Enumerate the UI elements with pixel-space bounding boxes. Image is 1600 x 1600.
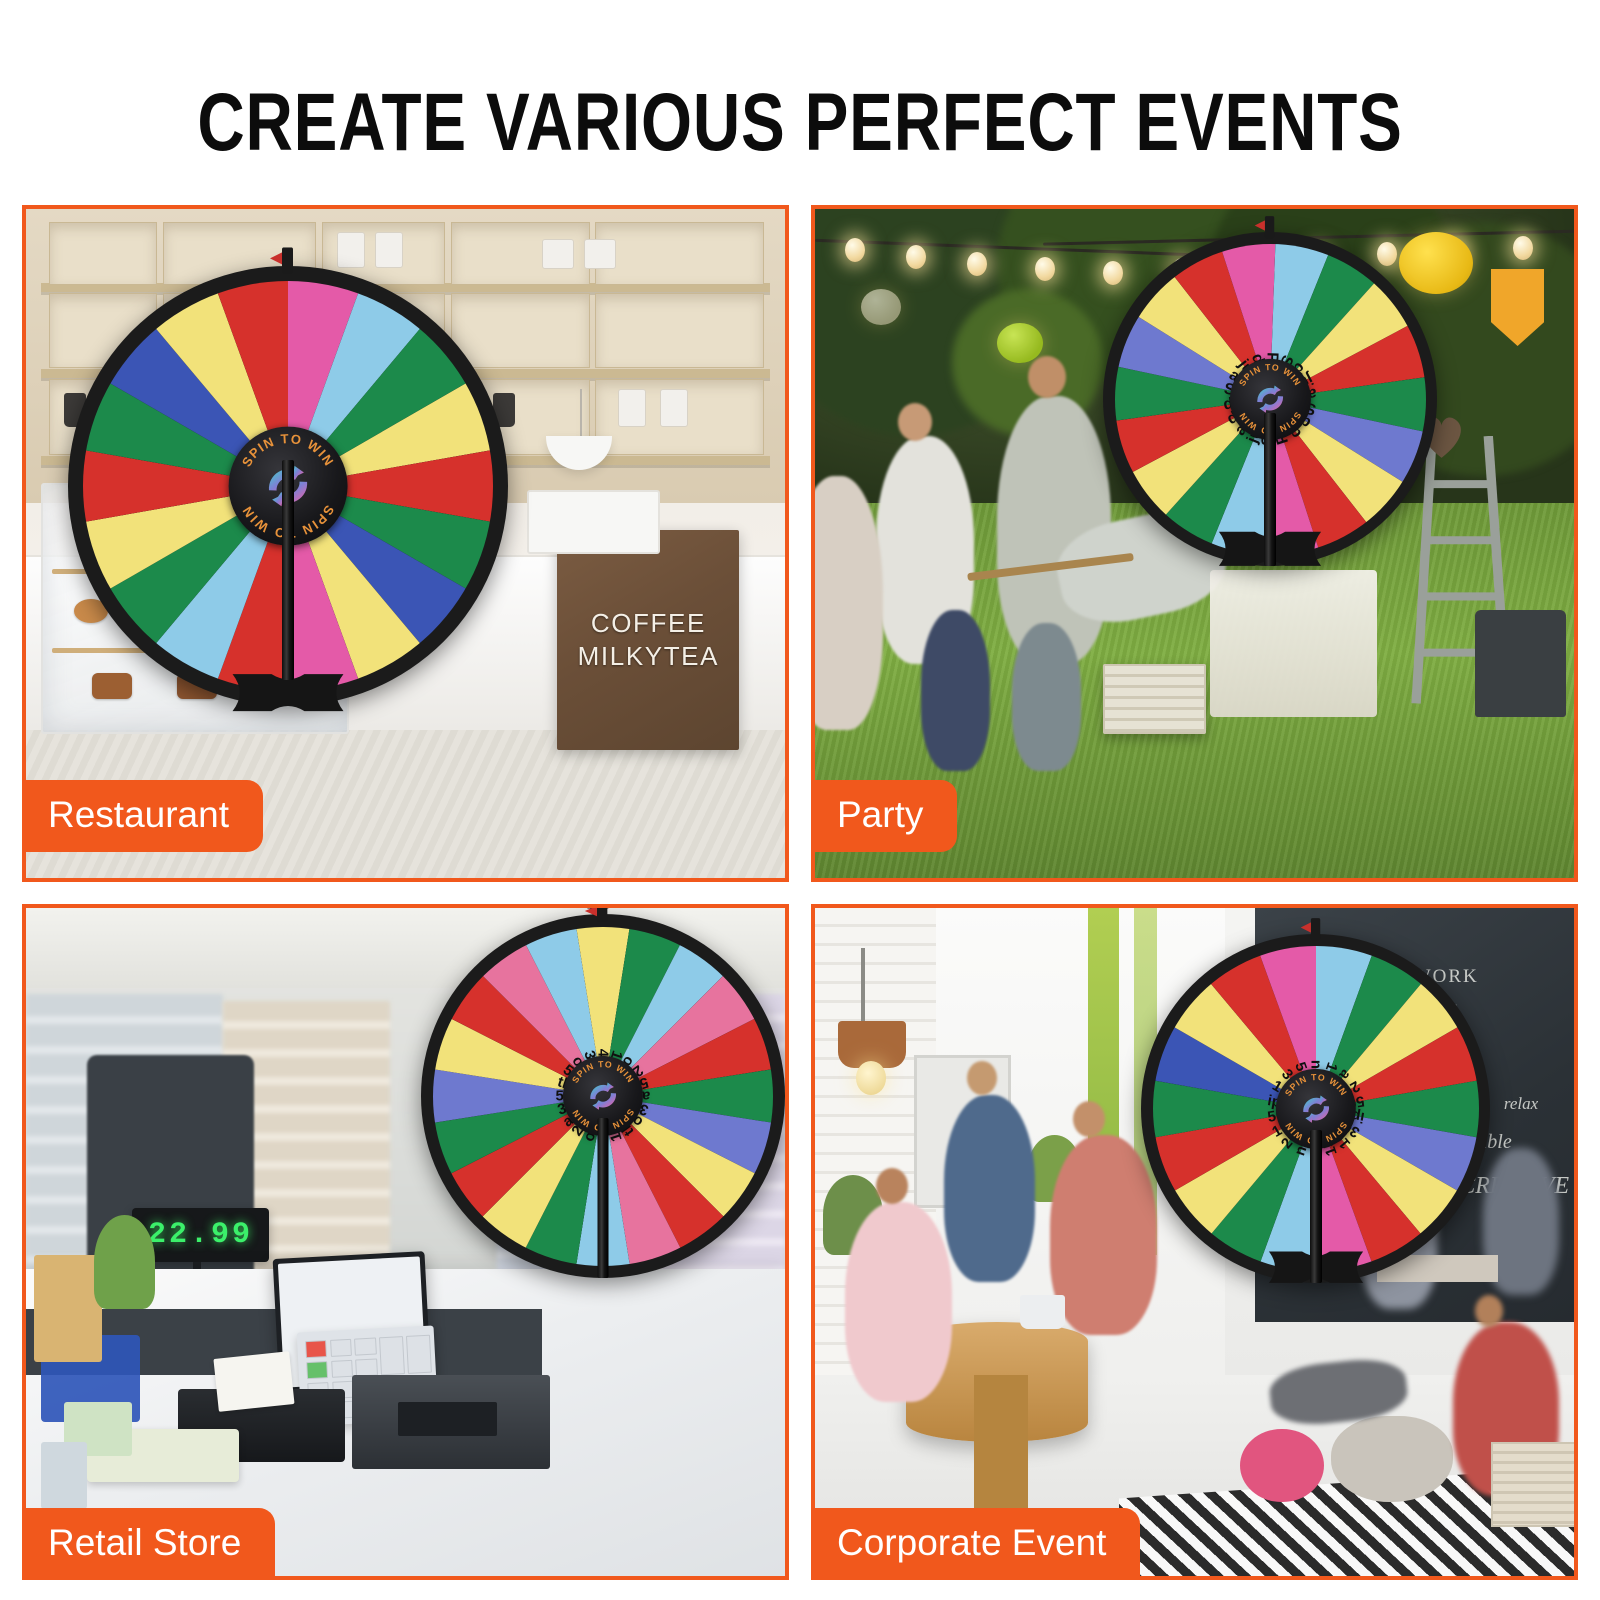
wheel-pole — [1264, 413, 1276, 567]
light-bulb — [856, 1061, 886, 1094]
wheel-pointer-icon — [1253, 216, 1287, 242]
prize-wheel-unit-party[interactable]: PassSingdancingjumpadventureSingdrinkdan… — [1103, 232, 1437, 566]
metal-stool — [1475, 610, 1566, 717]
sign-line-2: MILKYTEA — [578, 641, 719, 671]
person-head — [876, 1168, 908, 1204]
paper-lantern — [997, 323, 1043, 363]
cash-drawer-handle[interactable] — [398, 1402, 497, 1435]
caption-corporate-event: Corporate Event — [811, 1508, 1140, 1580]
pennant-flag — [1491, 269, 1544, 349]
page-title: CREATE VARIOUS PERFECT EVENTS — [160, 76, 1440, 170]
keypad-key[interactable] — [406, 1335, 432, 1374]
person-legs — [921, 610, 989, 770]
prize-wheel-unit-restaurant[interactable]: Cokefree token Clubpizza2FTTool boxA cup… — [68, 266, 508, 706]
storage-jar — [660, 389, 688, 427]
keypad-key[interactable] — [379, 1336, 405, 1375]
wheel-pole — [597, 1118, 608, 1278]
bottle — [41, 1442, 87, 1509]
receipt-paper — [213, 1352, 294, 1413]
scene-party: PassSingdancingjumpadventureSingdrinkdan… — [815, 209, 1574, 878]
wooden-crate — [1491, 1442, 1575, 1526]
string-light-bulb — [967, 252, 987, 276]
person — [845, 1202, 951, 1403]
pendant-cord — [861, 948, 865, 1028]
wooden-crate — [1103, 664, 1206, 735]
scene-corporate-event: TEAMWORK Community WORKING THINK MOTIVAT… — [815, 908, 1574, 1577]
stacked-bowls — [584, 239, 616, 269]
wheel-pointer-icon — [1299, 918, 1333, 944]
knit-pouf — [1240, 1429, 1323, 1503]
leafy-greens — [94, 1215, 155, 1309]
person — [944, 1095, 1035, 1282]
sign-line-1: COFFEE — [591, 608, 706, 638]
stacked-bowls — [542, 239, 574, 269]
counter-sign: COFFEE MILKYTEA — [557, 530, 739, 751]
storage-jar — [618, 389, 646, 427]
keypad-key[interactable] — [306, 1340, 328, 1358]
scene-retail-store: 22.99 — [26, 908, 785, 1577]
panel-restaurant: COFFEE MILKYTEA — [22, 205, 789, 882]
wheel-pointer-icon — [583, 908, 627, 926]
person-head — [1028, 356, 1066, 398]
prize-wheel-unit-corporate[interactable]: netbook$ 1000again$ 2000$ 500iphone$ 300… — [1141, 934, 1490, 1283]
keypad-key[interactable] — [331, 1359, 353, 1377]
prize-wheel-unit-retail[interactable]: $ 40$ 1035% off$ 20$ 5again$ 3010% offth… — [421, 914, 785, 1278]
storage-jar — [375, 232, 403, 268]
storage-jar — [337, 232, 365, 268]
caption-retail-store: Retail Store — [22, 1508, 275, 1580]
string-light-bulb — [1513, 236, 1533, 260]
keypad-key[interactable] — [307, 1361, 329, 1379]
shelf-cubby — [595, 222, 764, 284]
caption-party: Party — [811, 780, 957, 852]
person-legs — [1012, 623, 1080, 770]
bread-loaf — [34, 1255, 102, 1362]
wheel-pointer-icon — [268, 247, 308, 277]
scene-grid: COFFEE MILKYTEA — [22, 205, 1578, 1580]
shelf-cubby — [595, 293, 764, 369]
keypad-key[interactable] — [356, 1358, 378, 1376]
canopy-tent — [1210, 570, 1377, 717]
pendant-cord — [580, 389, 582, 442]
panel-party: PassSingdancingjumpadventureSingdrinkdan… — [811, 205, 1578, 882]
wheel-pole — [1310, 1130, 1322, 1284]
scene-restaurant: COFFEE MILKYTEA — [26, 209, 785, 878]
panel-corporate-event: TEAMWORK Community WORKING THINK MOTIVAT… — [811, 904, 1578, 1581]
paper-lantern — [861, 289, 901, 325]
coffee-mug — [1020, 1295, 1066, 1328]
wheel-pole — [282, 460, 294, 680]
panel-retail-store: 22.99 — [22, 904, 789, 1581]
chalk-word: relax — [1504, 1094, 1538, 1114]
bean-bag — [1331, 1416, 1452, 1503]
double-arrow-refresh-icon — [1290, 1083, 1341, 1134]
pos-display-value: 22.99 — [148, 1218, 253, 1252]
person-head — [967, 1061, 997, 1095]
caption-restaurant: Restaurant — [22, 780, 263, 852]
keypad-key[interactable] — [330, 1339, 352, 1357]
double-arrow-refresh-icon — [577, 1071, 628, 1122]
product-feature-image: CREATE VARIOUS PERFECT EVENTS — [0, 0, 1600, 1600]
table-base — [974, 1375, 1027, 1522]
register-box — [527, 490, 660, 554]
keypad-key[interactable] — [355, 1338, 377, 1356]
